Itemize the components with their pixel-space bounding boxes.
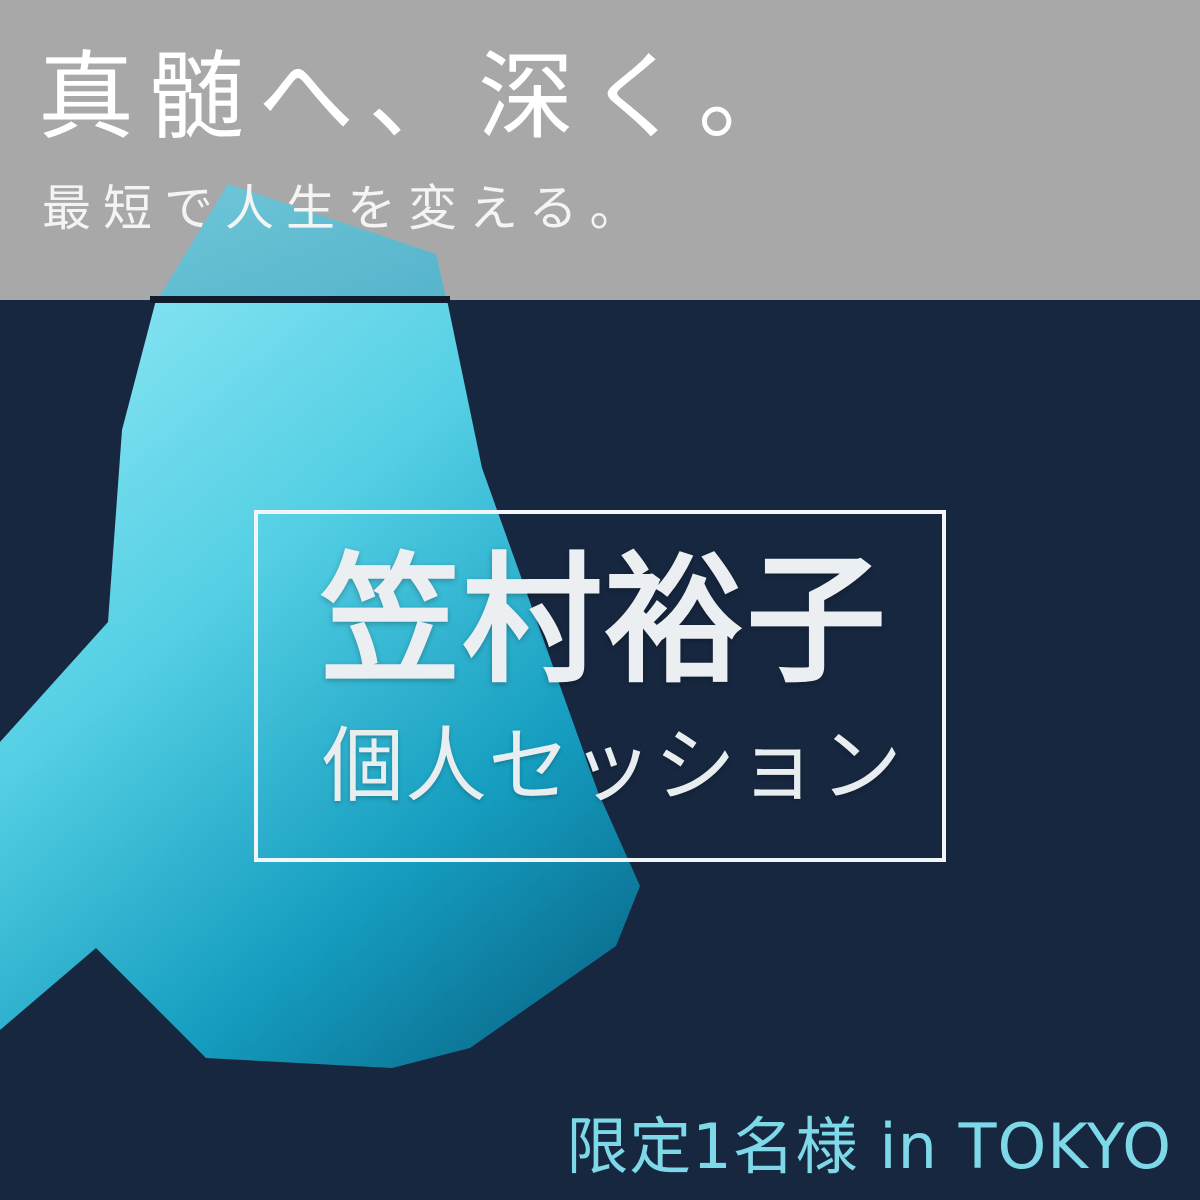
session-label: 個人セッション (322, 726, 942, 808)
availability-note: 限定1名様 in TOKYO (566, 1116, 1172, 1178)
presenter-name: 笠村裕子 (320, 552, 940, 692)
waterline-stroke (150, 296, 450, 303)
page-subtitle: 最短で人生を変える。 (42, 182, 1142, 236)
page-title: 真髄へ、深く。 (38, 48, 1138, 149)
poster-canvas: 真髄へ、深く。 最短で人生を変える。 笠村裕子 個人セッション 限定1名様 in… (0, 0, 1200, 1200)
